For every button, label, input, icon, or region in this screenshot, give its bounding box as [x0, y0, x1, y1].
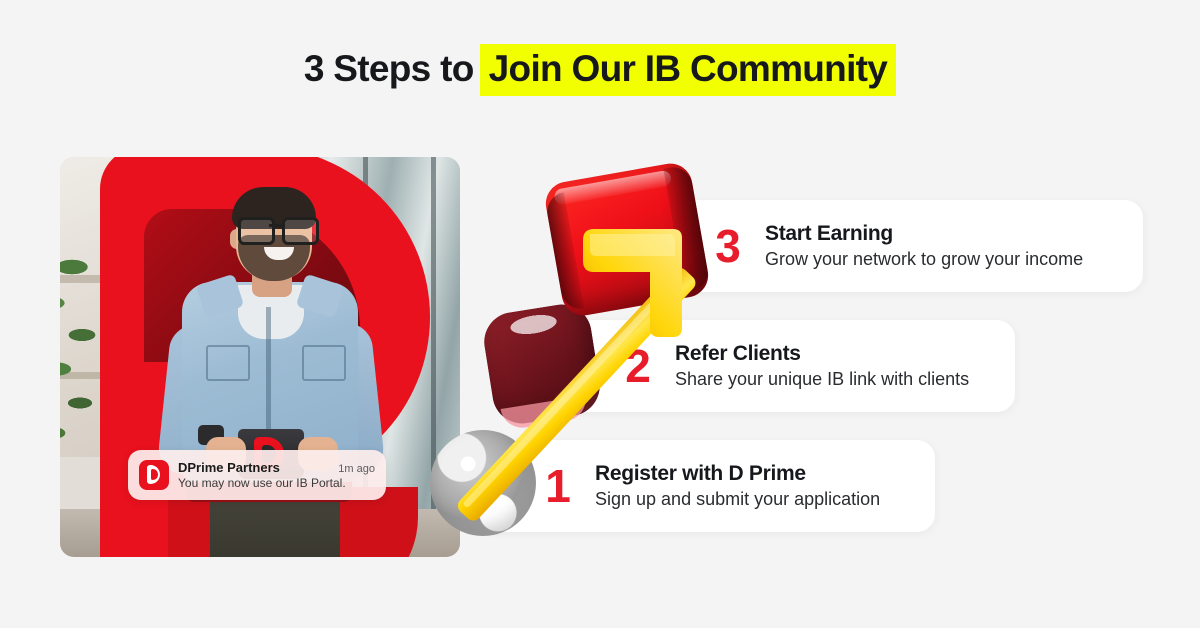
person-shirt-pocket-right — [302, 345, 346, 381]
step-number-2: 2 — [615, 343, 661, 389]
step-title-1: Register with D Prime — [595, 462, 880, 486]
dprime-d-logo-icon — [139, 460, 169, 490]
glasses-icon — [236, 217, 318, 239]
step-description-3: Grow your network to grow your income — [765, 249, 1083, 271]
step-card-3[interactable]: 3 Start Earning Grow your network to gro… — [640, 200, 1143, 292]
notification-header: DPrime Partners 1m ago — [178, 460, 375, 475]
hero-photo: DPrime Partners 1m ago You may now use o… — [60, 157, 460, 557]
dark-red-cube-3d — [480, 300, 604, 428]
step-description-2: Share your unique IB link with clients — [675, 369, 969, 391]
notification-timestamp: 1m ago — [338, 463, 375, 475]
red-cube-left-face — [544, 192, 584, 312]
notification-card[interactable]: DPrime Partners 1m ago You may now use o… — [128, 450, 386, 500]
d-glyph — [147, 465, 160, 484]
red-cube-3d — [542, 160, 711, 319]
page-title-plain: 3 Steps to — [304, 48, 474, 89]
step-text-3: Start Earning Grow your network to grow … — [765, 222, 1083, 271]
notification-message: You may now use our IB Portal. — [178, 476, 375, 490]
step-number-1: 1 — [535, 463, 581, 509]
glasses-lens-right — [282, 217, 319, 245]
step-title-2: Refer Clients — [675, 342, 969, 366]
person-shirt-pocket-left — [206, 345, 250, 381]
glasses-bridge — [269, 224, 282, 227]
notification-body: DPrime Partners 1m ago You may now use o… — [178, 460, 375, 490]
glasses-lens-left — [238, 217, 275, 245]
step-text-2: Refer Clients Share your unique IB link … — [675, 342, 969, 391]
step-card-1[interactable]: 1 Register with D Prime Sign up and subm… — [480, 440, 935, 532]
page-title-highlight: Join Our IB Community — [480, 44, 896, 96]
step-card-2[interactable]: 2 Refer Clients Share your unique IB lin… — [560, 320, 1015, 412]
glossy-sphere-3d — [430, 430, 536, 536]
red-cube-top-face — [553, 170, 672, 206]
step-number-3: 3 — [705, 223, 751, 269]
notification-app-name: DPrime Partners — [178, 460, 280, 475]
page-title: 3 Steps toJoin Our IB Community — [0, 48, 1200, 90]
step-text-1: Register with D Prime Sign up and submit… — [595, 462, 880, 511]
step-description-1: Sign up and submit your application — [595, 489, 880, 511]
step-title-3: Start Earning — [765, 222, 1083, 246]
